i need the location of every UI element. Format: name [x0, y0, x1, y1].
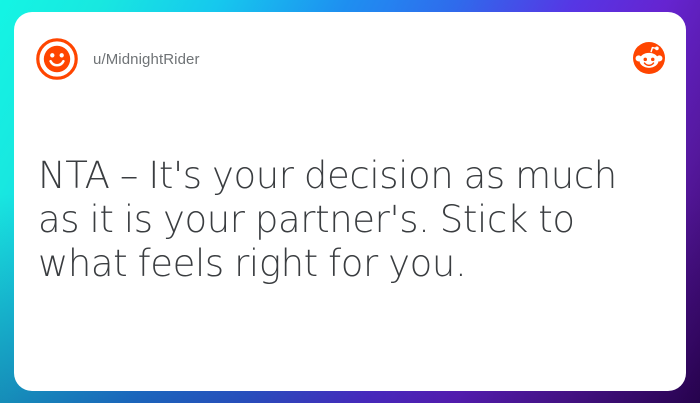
reddit-snoo-icon[interactable] — [633, 42, 665, 74]
smiley-face-avatar-icon[interactable] — [36, 38, 78, 80]
username-label[interactable]: u/MidnightRider — [93, 51, 200, 69]
screenshot-root: u/MidnightRider NTA – It's your decision — [0, 0, 700, 403]
comment-header: u/MidnightRider — [14, 12, 686, 104]
comment-text: NTA – It's your decision as much as it i… — [38, 154, 660, 286]
reddit-comment-card: u/MidnightRider NTA – It's your decision — [14, 12, 686, 391]
